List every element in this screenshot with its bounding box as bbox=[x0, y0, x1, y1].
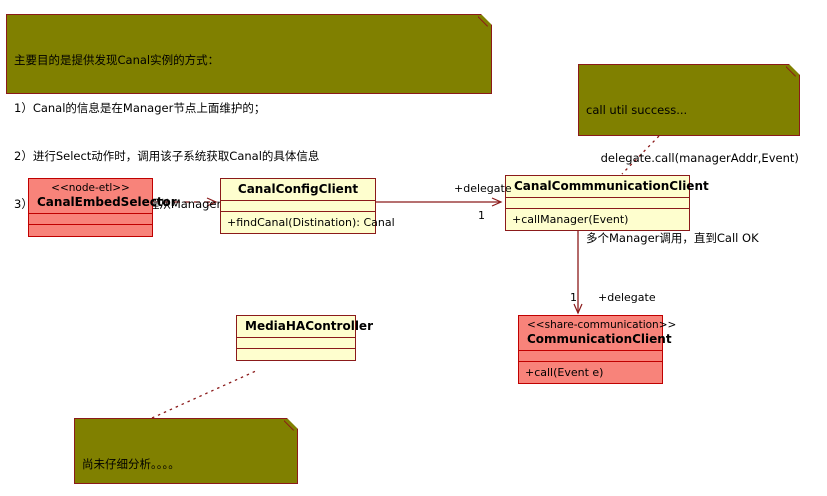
class-name: CommunicationClient bbox=[527, 332, 654, 346]
class-method: +call(Event e) bbox=[525, 366, 603, 379]
note-call-util: call util success... delegate.call(manag… bbox=[578, 64, 800, 136]
edge-multiplicity-vertical: 1 bbox=[570, 291, 577, 304]
class-header: CanalCommmunicationClient bbox=[506, 176, 689, 198]
class-methods-compartment bbox=[237, 349, 355, 360]
note-purpose-line-3: 2）进行Select动作时，调用该子系统获取Canal的具体信息 bbox=[14, 148, 483, 164]
note-fold-line-icon bbox=[478, 14, 492, 28]
class-attributes-compartment bbox=[29, 214, 152, 225]
note-purpose-line-1: 主要目的是提供发现Canal实例的方式： bbox=[14, 52, 483, 68]
class-attributes-compartment bbox=[237, 338, 355, 349]
edge-multiplicity-horizontal: 1 bbox=[478, 209, 485, 222]
note-fold-line-icon bbox=[786, 64, 800, 78]
edge-label-delegate-horizontal: +delegate bbox=[454, 182, 512, 195]
class-canal-embed-selector[interactable]: <<node-etl>> CanalEmbedSelector bbox=[28, 178, 153, 237]
class-communication-client[interactable]: <<share-communication>> CommunicationCli… bbox=[518, 315, 663, 384]
class-stereotype: <<node-etl>> bbox=[37, 182, 144, 195]
class-header: <<share-communication>> CommunicationCli… bbox=[519, 316, 662, 351]
class-canal-communication-client[interactable]: CanalCommmunicationClient +callManager(E… bbox=[505, 175, 690, 231]
class-attributes-compartment bbox=[221, 201, 375, 212]
class-attributes-compartment bbox=[506, 198, 689, 209]
uml-class-diagram: 主要目的是提供发现Canal实例的方式： 1）Canal的信息是在Manager… bbox=[0, 0, 827, 496]
class-methods-compartment: +callManager(Event) bbox=[506, 209, 689, 230]
note-fold-line-icon bbox=[284, 418, 298, 432]
class-name: MediaHAController bbox=[245, 319, 347, 333]
class-method: +callManager(Event) bbox=[512, 213, 628, 226]
class-stereotype: <<share-communication>> bbox=[527, 319, 654, 332]
class-media-ha-controller[interactable]: MediaHAController bbox=[236, 315, 356, 361]
class-methods-compartment: +call(Event e) bbox=[519, 362, 662, 383]
class-header: <<node-etl>> CanalEmbedSelector bbox=[29, 179, 152, 214]
class-name: CanalCommmunicationClient bbox=[514, 179, 681, 193]
class-attributes-compartment bbox=[519, 351, 662, 362]
note-not-analyzed: 尚未仔细分析。。。。 bbox=[74, 418, 298, 484]
class-methods-compartment: +findCanal(Distination): Canal bbox=[221, 212, 375, 233]
class-method: +findCanal(Distination): Canal bbox=[227, 216, 395, 229]
class-name: CanalConfigClient bbox=[229, 182, 367, 196]
class-canal-config-client[interactable]: CanalConfigClient +findCanal(Distination… bbox=[220, 178, 376, 234]
note-purpose: 主要目的是提供发现Canal实例的方式： 1）Canal的信息是在Manager… bbox=[6, 14, 492, 94]
edge-label-delegate-vertical: +delegate bbox=[598, 291, 656, 304]
class-header: CanalConfigClient bbox=[221, 179, 375, 201]
note-call-util-line-1: call util success... bbox=[586, 102, 791, 118]
note-call-util-line-4: 多个Manager调用，直到Call OK bbox=[586, 230, 791, 246]
note-anchor-notanalyzed bbox=[152, 370, 258, 418]
class-header: MediaHAController bbox=[237, 316, 355, 338]
note-call-util-line-2: delegate.call(managerAddr,Event) bbox=[586, 150, 791, 166]
class-methods-compartment bbox=[29, 225, 152, 236]
note-purpose-line-2: 1）Canal的信息是在Manager节点上面维护的； bbox=[14, 100, 483, 116]
class-name: CanalEmbedSelector bbox=[37, 195, 144, 209]
note-not-analyzed-line-1: 尚未仔细分析。。。。 bbox=[82, 456, 289, 472]
